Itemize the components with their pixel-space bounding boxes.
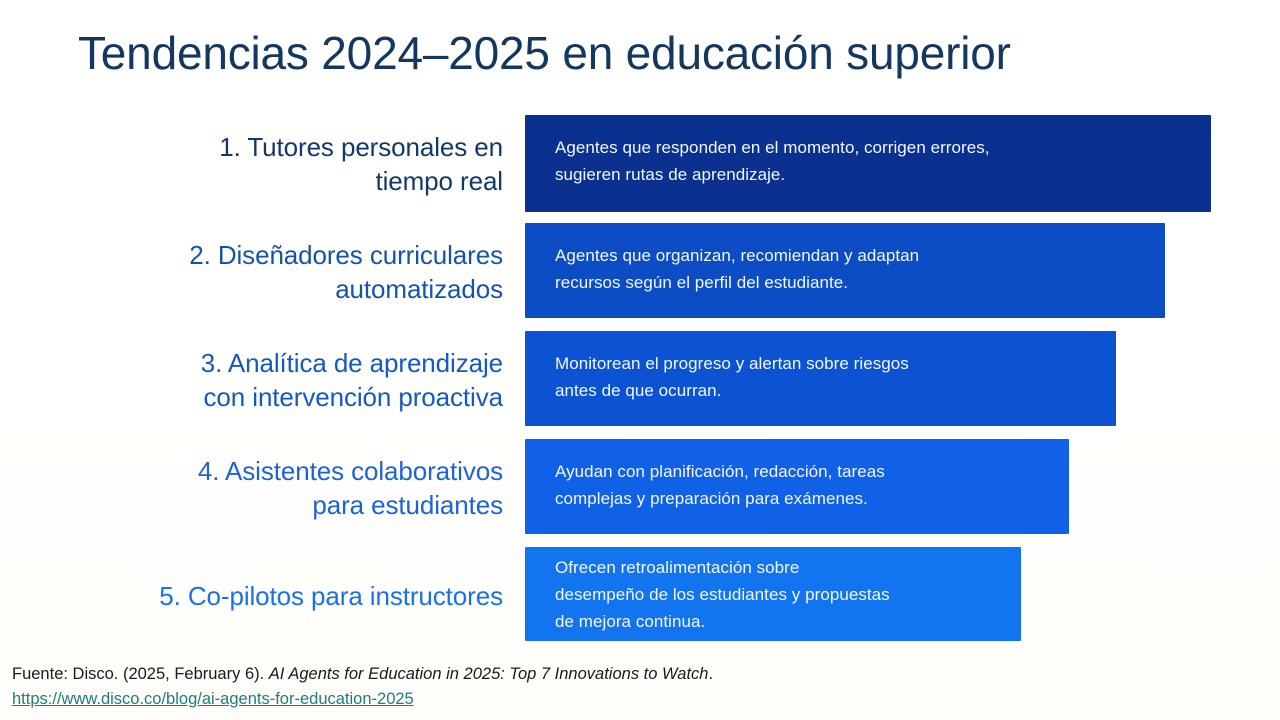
trend-label-3: 3. Analítica de aprendizaje con interven… (40, 346, 503, 414)
citation-prefix: Fuente: Disco. (2025, February 6). (12, 665, 269, 683)
page-title: Tendencias 2024–2025 en educación superi… (78, 24, 1208, 82)
trend-description-5: Ofrecen retroalimentación sobre desempeñ… (555, 554, 890, 635)
trends-funnel-list: 1. Tutores personales en tiempo real Age… (0, 108, 1280, 648)
trend-label-5: 5. Co-pilotos para instructores (40, 579, 503, 613)
citation-work-title: AI Agents for Education in 2025: Top 7 I… (269, 665, 709, 683)
slide-canvas: Tendencias 2024–2025 en educación superi… (0, 0, 1280, 720)
trend-description-2: Agentes que organizan, recomiendan y ada… (555, 242, 919, 296)
trend-description-4: Ayudan con planificación, redacción, tar… (555, 458, 885, 512)
trend-label-4: 4. Asistentes colaborativos para estudia… (40, 454, 503, 522)
source-url-link[interactable]: https://www.disco.co/blog/ai-agents-for-… (12, 688, 1262, 710)
trend-label-1: 1. Tutores personales en tiempo real (40, 130, 503, 198)
trend-description-3: Monitorean el progreso y alertan sobre r… (555, 350, 909, 404)
trend-description-1: Agentes que responden en el momento, cor… (555, 134, 990, 188)
source-citation: Fuente: Disco. (2025, February 6). AI Ag… (12, 663, 1262, 710)
citation-suffix: . (708, 665, 713, 683)
trend-label-2: 2. Diseñadores curriculares automatizado… (40, 238, 503, 306)
